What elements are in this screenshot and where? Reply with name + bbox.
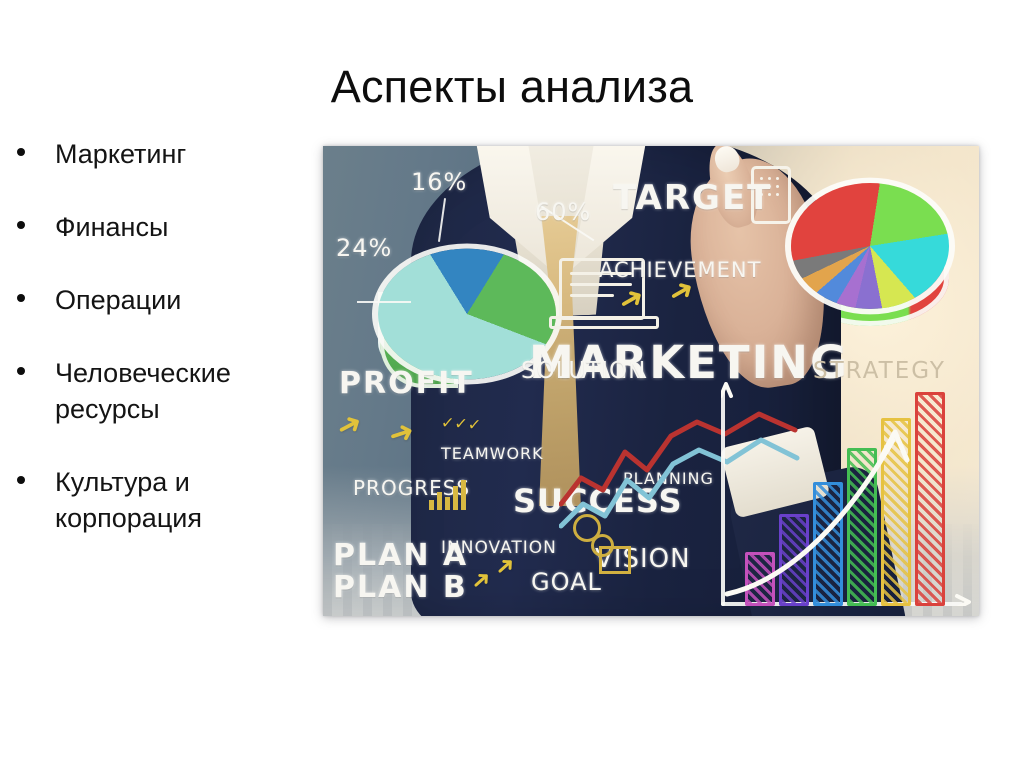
list-item: Маркетинг — [8, 136, 308, 172]
keyword-plan-a: PLAN A — [333, 538, 468, 573]
keyword-profit: PROFIT — [339, 366, 474, 401]
list-item-label: Культура и корпорация — [55, 464, 308, 536]
keyword-strategy: STRATEGY — [813, 358, 946, 384]
keyword-plan-b: PLAN B — [333, 570, 468, 605]
bar-chart-icon — [427, 476, 467, 510]
list-item: Культура и корпорация — [8, 464, 308, 536]
list-item: Операции — [8, 282, 308, 318]
bullet-marker-icon — [17, 148, 25, 156]
growth-bar-chart — [721, 382, 971, 606]
pie-leader-24 — [357, 301, 411, 303]
bullet-marker-icon — [17, 476, 25, 484]
box-icon — [599, 546, 631, 574]
keyword-teamwork: TEAMWORK — [441, 444, 544, 463]
keyword-solution: SOLUTION — [521, 358, 646, 384]
growth-arrow-icon — [721, 382, 971, 606]
pie-top — [791, 183, 949, 309]
list-item-label: Человеческие ресурсы — [55, 355, 308, 427]
list-item: Человеческие ресурсы — [8, 355, 308, 427]
bullet-marker-icon — [17, 367, 25, 375]
pie-label-24: 24% — [336, 234, 392, 262]
keyword-target: TARGET — [613, 178, 772, 218]
bullet-marker-icon — [17, 294, 25, 302]
checkmarks-icon: ✓✓✓ — [440, 413, 481, 435]
right-pie-chart — [791, 176, 949, 340]
keyword-goal: GOAL — [531, 568, 602, 596]
arrow-icon: ➜ — [330, 404, 369, 447]
slide: Аспекты анализа Маркетинг Финансы Операц… — [0, 0, 1024, 767]
pie-label-16: 16% — [411, 168, 467, 196]
list-item-label: Финансы — [55, 209, 308, 245]
slide-image: 16% 24% 60% TARGET ACHIEVEMENT — [323, 146, 979, 616]
photo-background: 16% 24% 60% TARGET ACHIEVEMENT — [323, 146, 979, 616]
list-item-label: Маркетинг — [55, 136, 308, 172]
bullet-list: Маркетинг Финансы Операции Человеческие … — [8, 136, 308, 536]
list-item: Финансы — [8, 209, 308, 245]
page-title: Аспекты анализа — [0, 58, 1024, 116]
list-item-label: Операции — [55, 282, 308, 318]
bullet-marker-icon — [17, 221, 25, 229]
pie-label-60: 60% — [535, 198, 591, 226]
